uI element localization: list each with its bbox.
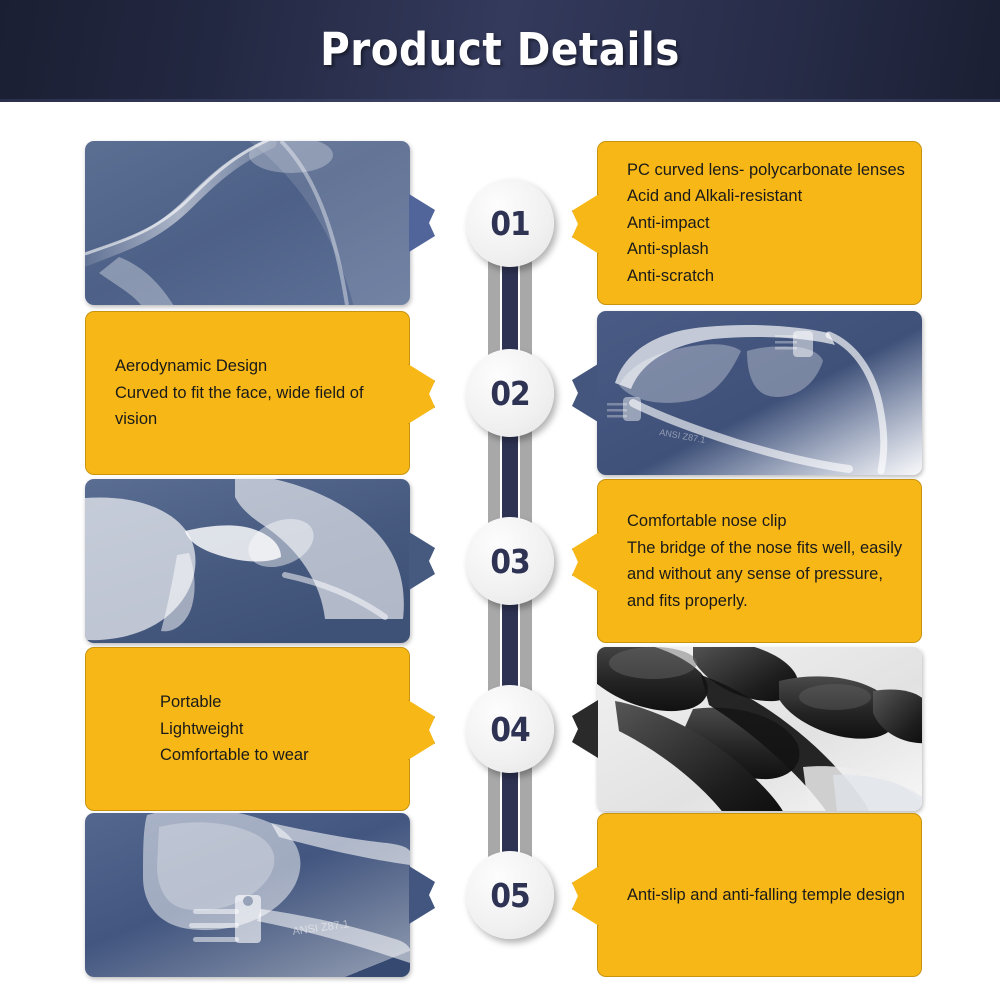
photo-nose-bridge (85, 479, 410, 643)
callout-line: Aerodynamic Design (115, 353, 410, 380)
photo-pointer-04 (572, 700, 598, 758)
step-badge-03[interactable]: 03 (466, 517, 554, 605)
callout-line: Comfortable to wear (160, 742, 410, 769)
callout-line: vision (115, 406, 410, 433)
callout-pointer-03 (572, 532, 599, 592)
step-row-01: 01 PC curved lens- polycarbonate lenses … (0, 141, 1000, 305)
step-number-04: 04 (490, 710, 529, 749)
step-badge-01[interactable]: 01 (466, 179, 554, 267)
callout-line: Lightweight (160, 716, 410, 743)
step-badge-05[interactable]: 05 (466, 851, 554, 939)
photo-pointer-05 (409, 866, 435, 924)
step-number-02: 02 (490, 374, 529, 413)
page-title: Product Details (320, 23, 680, 76)
callout-line: The bridge of the nose fits well, easily (627, 535, 922, 562)
photo-card-03[interactable] (85, 479, 410, 643)
callout-text-04: Portable Lightweight Comfortable to wear (85, 647, 410, 811)
step-row-02: Aerodynamic Design Curved to fit the fac… (0, 311, 1000, 475)
callout-line: Acid and Alkali-resistant (627, 183, 922, 210)
callout-line: Anti-impact (627, 210, 922, 237)
photo-full-glasses: ANSI Z87.1 (597, 311, 922, 475)
text-card-04[interactable]: Portable Lightweight Comfortable to wear (85, 647, 410, 811)
photo-stacked-dark-glasses (597, 647, 922, 811)
callout-text-02: Aerodynamic Design Curved to fit the fac… (85, 311, 410, 475)
photo-card-02[interactable]: ANSI Z87.1 (597, 311, 922, 475)
callout-text-05: Anti-slip and anti-falling temple design (597, 813, 922, 977)
photo-pointer-01 (409, 194, 435, 252)
page-header: Product Details (0, 0, 1000, 99)
photo-card-04[interactable] (597, 647, 922, 811)
callout-line: PC curved lens- polycarbonate lenses (627, 157, 922, 184)
callout-pointer-04 (408, 700, 435, 760)
text-card-05[interactable]: Anti-slip and anti-falling temple design (597, 813, 922, 977)
callout-line: Anti-splash (627, 236, 922, 263)
photo-lens-closeup (85, 141, 410, 305)
step-row-05: ANSI Z87.1 05 Anti-slip and anti-falling… (0, 813, 1000, 977)
callout-text-01: PC curved lens- polycarbonate lenses Aci… (597, 141, 922, 305)
callout-line: Anti-scratch (627, 263, 922, 290)
photo-temple-hinge: ANSI Z87.1 (85, 813, 410, 977)
callout-line: Portable (160, 689, 410, 716)
text-card-01[interactable]: PC curved lens- polycarbonate lenses Aci… (597, 141, 922, 305)
callout-pointer-05 (572, 866, 599, 926)
callout-line: and fits properly. (627, 588, 922, 615)
callout-line: Anti-slip and anti-falling temple design (627, 882, 922, 909)
text-card-03[interactable]: Comfortable nose clip The bridge of the … (597, 479, 922, 643)
step-number-05: 05 (490, 876, 529, 915)
step-badge-04[interactable]: 04 (466, 685, 554, 773)
step-number-01: 01 (490, 204, 529, 243)
callout-line: Curved to fit the face, wide field of (115, 380, 410, 407)
step-row-03: 03 Comfortable nose clip The bridge of t… (0, 479, 1000, 643)
callout-text-03: Comfortable nose clip The bridge of the … (597, 479, 922, 643)
photo-card-05[interactable]: ANSI Z87.1 (85, 813, 410, 977)
step-row-04: Portable Lightweight Comfortable to wear… (0, 647, 1000, 811)
photo-card-01[interactable] (85, 141, 410, 305)
callout-pointer-01 (572, 194, 599, 254)
photo-pointer-02 (572, 364, 598, 422)
header-divider (0, 99, 1000, 102)
callout-pointer-02 (408, 364, 435, 424)
step-badge-02[interactable]: 02 (466, 349, 554, 437)
text-card-02[interactable]: Aerodynamic Design Curved to fit the fac… (85, 311, 410, 475)
photo-pointer-03 (409, 532, 435, 590)
callout-line: Comfortable nose clip (627, 508, 922, 535)
callout-line: and without any sense of pressure, (627, 561, 922, 588)
step-number-03: 03 (490, 542, 529, 581)
